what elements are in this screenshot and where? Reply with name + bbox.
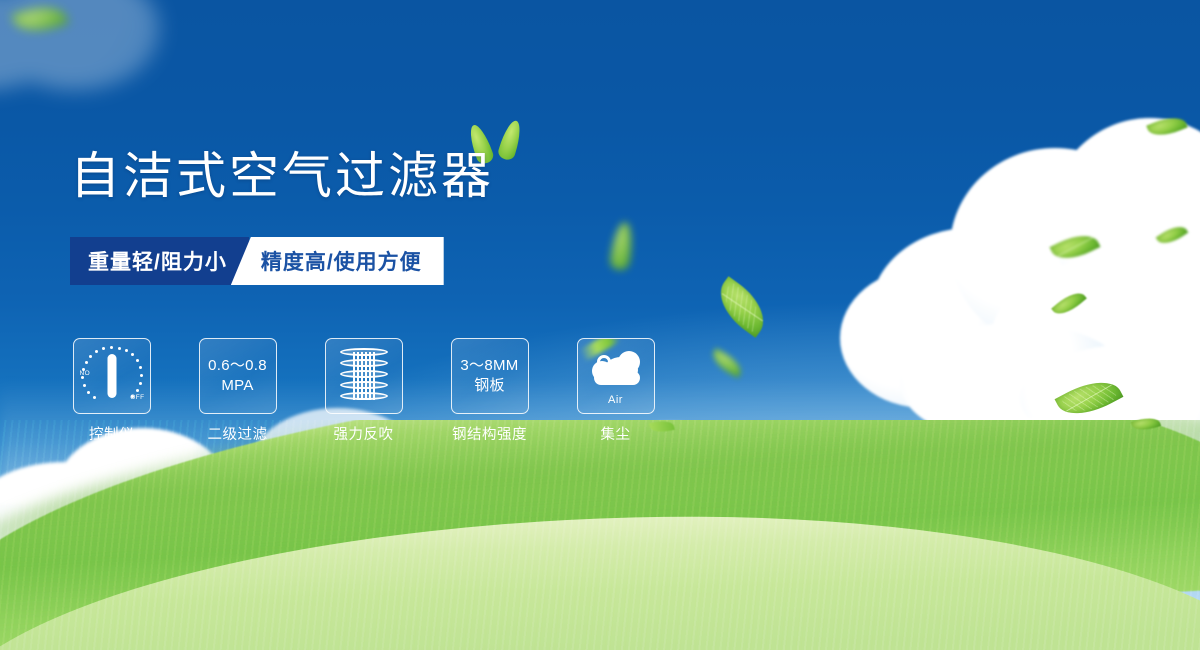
feature-label-dust-collection: 集尘 [601,423,631,444]
air-cloud-icon: Air [577,338,655,414]
feature-item-controller[interactable]: NO OFF 控制仪 [70,338,153,444]
steel-plate-text-icon: 3〜8MM 钢板 [451,338,529,414]
feature-label-controller: 控制仪 [89,423,134,444]
grass-field [0,420,1200,650]
steel-thickness: 3〜8MM [460,356,518,376]
feature-item-two-stage-filter[interactable]: 0.6〜0.8 MPA 二级过滤 [196,338,279,444]
tag-highprecision-easyuse[interactable]: 精度高/使用方便 [231,237,444,285]
steel-plate-word: 钢板 [474,376,505,396]
pressure-unit: MPA [221,376,253,396]
feature-label-strong-backflush: 强力反吹 [334,423,394,444]
feature-icon-row: NO OFF 控制仪 0.6〜0.8 MPA 二级过滤 [70,338,657,444]
feature-tag-bar: 重量轻/阻力小 精度高/使用方便 [70,237,444,285]
cartridge-graphic [338,348,390,404]
pressure-text-icon: 0.6〜0.8 MPA [199,338,277,414]
cloud-graphic [586,349,646,395]
feature-label-steel-strength: 钢结构强度 [452,423,527,444]
gauge-dial: NO OFF [81,345,143,407]
gauge-control-icon: NO OFF [73,338,151,414]
hero-banner: 自洁式空气过滤器 重量轻/阻力小 精度高/使用方便 [0,0,1200,650]
feature-item-dust-collection[interactable]: Air 集尘 [574,338,657,444]
page-title: 自洁式空气过滤器 [70,146,494,206]
pressure-value: 0.6〜0.8 [208,356,267,376]
gauge-off-label: OFF [130,394,144,401]
tag-lightweight-lowresistance[interactable]: 重量轻/阻力小 [70,237,249,285]
feature-item-strong-backflush[interactable]: 强力反吹 [322,338,405,444]
feature-item-steel-strength[interactable]: 3〜8MM 钢板 钢结构强度 [448,338,531,444]
feature-label-two-stage-filter: 二级过滤 [208,423,268,444]
gauge-no-label: NO [80,370,91,377]
filter-cartridge-icon [325,338,403,414]
air-label: Air [608,394,623,406]
